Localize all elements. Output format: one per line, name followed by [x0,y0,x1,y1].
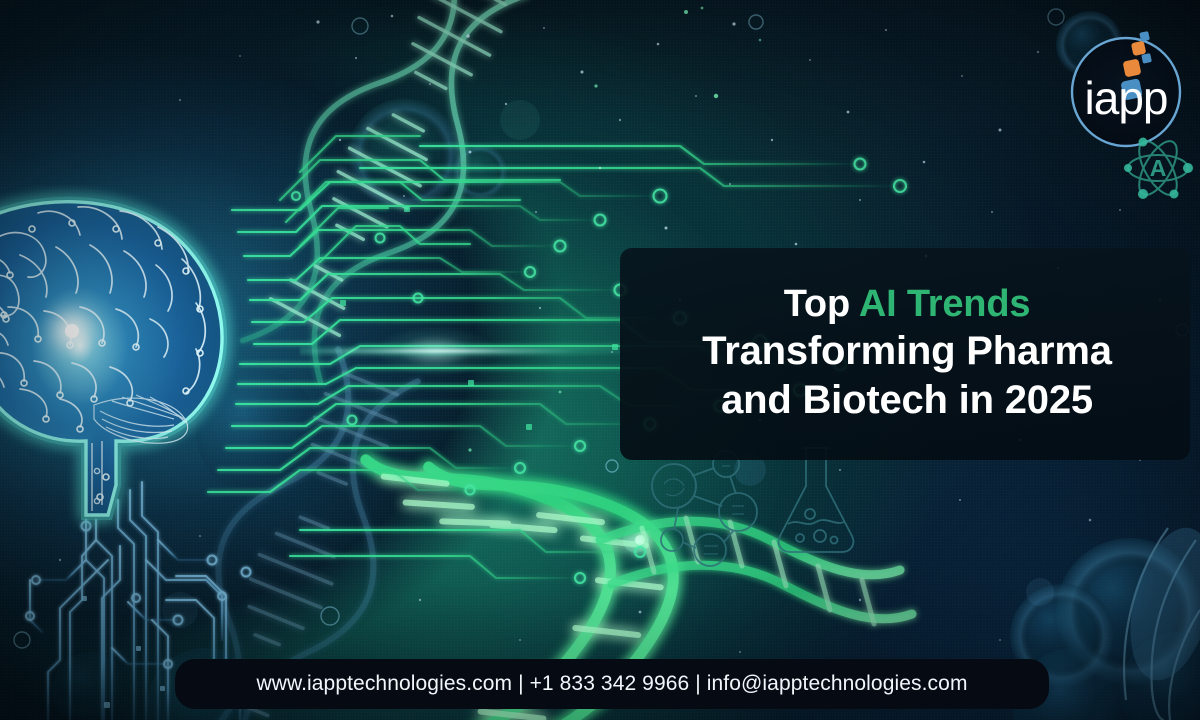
title-panel: Top AI Trends Transforming Pharma and Bi… [620,248,1190,460]
title-line-1: Top AI Trends [646,281,1168,327]
title-line-3: and Biotech in 2025 [646,376,1168,425]
iapp-logo[interactable]: iapp iapp [1058,18,1194,154]
contact-footer-bar: www.iapptechnologies.com | +1 833 342 99… [175,659,1049,709]
title-line-1-plain: Top [784,283,859,325]
title-line-1-accent: AI Trends [859,283,1030,325]
svg-text:iapp: iapp [1085,72,1168,124]
banner-image: iapp iapp A Top AI Trends Transforming P… [0,0,1200,720]
title-line-2: Transforming Pharma [646,327,1168,376]
atom-letter: A [1150,155,1167,181]
glowing-brain-icon [0,185,290,535]
contact-footer-text[interactable]: www.iapptechnologies.com | +1 833 342 99… [256,672,967,696]
